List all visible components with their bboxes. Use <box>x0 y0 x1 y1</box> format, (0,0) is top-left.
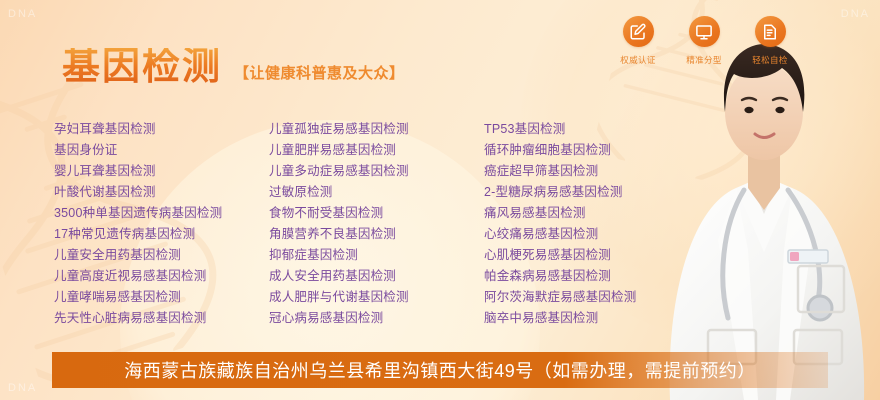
list-item[interactable]: 孕妇耳聋基因检测 <box>54 119 269 140</box>
list-item[interactable]: 抑郁症基因检测 <box>269 245 484 266</box>
list-item[interactable]: 儿童哮喘易感基因检测 <box>54 287 269 308</box>
test-column-2: 儿童孤独症易感基因检测 儿童肥胖易感基因检测 儿童多动症易感基因检测 过敏原检测… <box>269 119 484 329</box>
watermark-top-right: DNA <box>841 8 870 20</box>
list-item[interactable]: 帕金森病易感基因检测 <box>484 266 734 287</box>
feature-item-typing[interactable]: 精准分型 <box>678 16 730 66</box>
watermark-top-left: DNA <box>8 8 37 20</box>
address-bar: 海西蒙古族藏族自治州乌兰县希里沟镇西大街49号（如需办理，需提前预约） <box>52 352 828 388</box>
test-column-1: 孕妇耳聋基因检测 基因身份证 婴儿耳聋基因检测 叶酸代谢基因检测 3500种单基… <box>54 119 269 329</box>
page-title: 基因检测 <box>62 48 222 86</box>
list-item[interactable]: 儿童多动症易感基因检测 <box>269 161 484 182</box>
list-item[interactable]: 食物不耐受基因检测 <box>269 203 484 224</box>
address-text: 海西蒙古族藏族自治州乌兰县希里沟镇西大街49号（如需办理，需提前预约） <box>124 357 756 383</box>
list-item[interactable]: 儿童高度近视易感基因检测 <box>54 266 269 287</box>
feature-label: 权威认证 <box>612 54 664 66</box>
list-item[interactable]: 循环肿瘤细胞基因检测 <box>484 140 734 161</box>
edit-square-icon <box>623 16 654 47</box>
list-item[interactable]: 痛风易感基因检测 <box>484 203 734 224</box>
list-item[interactable]: 2-型糖尿病易感基因检测 <box>484 182 734 203</box>
promotional-banner: 基因检测 【让健康科普惠及大众】 权威认证 精准分型 <box>0 0 880 400</box>
list-item[interactable]: 成人安全用药基因检测 <box>269 266 484 287</box>
feature-list: 权威认证 精准分型 轻松自检 <box>612 16 796 66</box>
list-item[interactable]: 婴儿耳聋基因检测 <box>54 161 269 182</box>
list-item[interactable]: 3500种单基因遗传病基因检测 <box>54 203 269 224</box>
list-item[interactable]: 儿童孤独症易感基因检测 <box>269 119 484 140</box>
list-item[interactable]: 17种常见遗传病基因检测 <box>54 224 269 245</box>
list-item[interactable]: 基因身份证 <box>54 140 269 161</box>
feature-item-authority[interactable]: 权威认证 <box>612 16 664 66</box>
list-item[interactable]: 冠心病易感基因检测 <box>269 308 484 329</box>
list-item[interactable]: 心绞痛易感基因检测 <box>484 224 734 245</box>
list-item[interactable]: 儿童安全用药基因检测 <box>54 245 269 266</box>
document-icon <box>755 16 786 47</box>
list-item[interactable]: 叶酸代谢基因检测 <box>54 182 269 203</box>
list-item[interactable]: 癌症超早筛基因检测 <box>484 161 734 182</box>
list-item[interactable]: 成人肥胖与代谢基因检测 <box>269 287 484 308</box>
feature-item-selfcheck[interactable]: 轻松自检 <box>744 16 796 66</box>
page-subtitle: 【让健康科普惠及大众】 <box>234 62 405 86</box>
list-item[interactable]: 心肌梗死易感基因检测 <box>484 245 734 266</box>
headline: 基因检测 【让健康科普惠及大众】 <box>62 48 405 86</box>
monitor-icon <box>689 16 720 47</box>
list-item[interactable]: TP53基因检测 <box>484 119 734 140</box>
feature-label: 精准分型 <box>678 54 730 66</box>
test-column-3: TP53基因检测 循环肿瘤细胞基因检测 癌症超早筛基因检测 2-型糖尿病易感基因… <box>484 119 734 329</box>
list-item[interactable]: 过敏原检测 <box>269 182 484 203</box>
list-item[interactable]: 角膜营养不良基因检测 <box>269 224 484 245</box>
feature-label: 轻松自检 <box>744 54 796 66</box>
list-item[interactable]: 儿童肥胖易感基因检测 <box>269 140 484 161</box>
list-item[interactable]: 先天性心脏病易感基因检测 <box>54 308 269 329</box>
list-item[interactable]: 阿尔茨海默症易感基因检测 <box>484 287 734 308</box>
watermark-bottom-left: DNA <box>8 382 37 394</box>
list-item[interactable]: 脑卒中易感基因检测 <box>484 308 734 329</box>
test-item-columns: 孕妇耳聋基因检测 基因身份证 婴儿耳聋基因检测 叶酸代谢基因检测 3500种单基… <box>54 119 754 329</box>
